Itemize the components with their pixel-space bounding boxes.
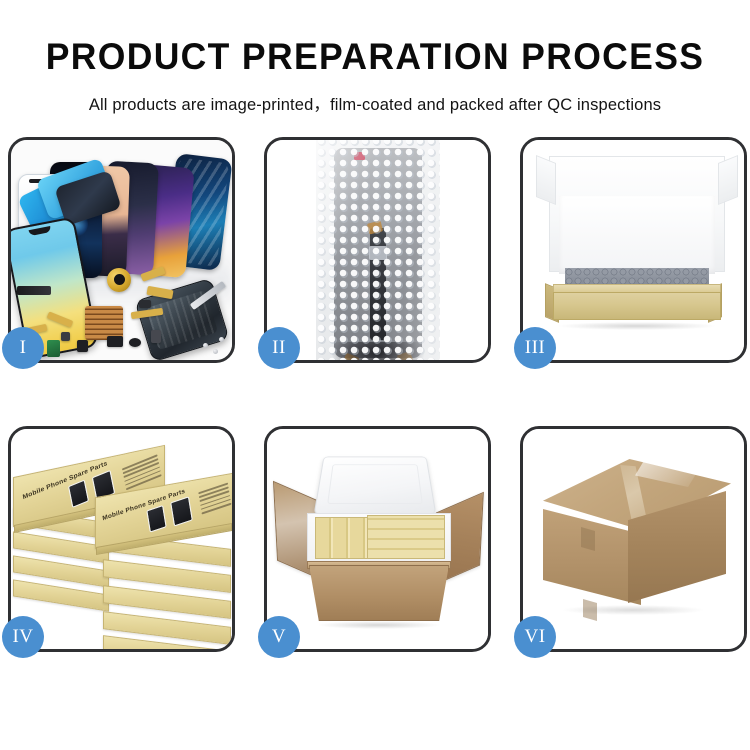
step-4-illustration: Mobile Phone Spare Parts Mobile Phone Sp… <box>11 429 232 649</box>
product-preparation-infographic: PRODUCT PREPARATION PROCESS All products… <box>0 0 750 750</box>
carton-front-icon <box>309 565 449 621</box>
step-6-illustration <box>523 429 744 649</box>
camera-module-icon <box>77 340 88 352</box>
step-badge-3: III <box>514 327 556 369</box>
step-badge-4: IV <box>2 616 44 658</box>
step-2-illustration <box>267 140 488 360</box>
wireless-coil-icon <box>107 268 131 292</box>
box-phone-graphic <box>146 505 166 533</box>
step-1-illustration <box>11 140 232 360</box>
step-badge-2: II <box>258 327 300 369</box>
drop-shadow <box>319 621 439 629</box>
screw-icon <box>213 349 218 354</box>
circuit-board-icon <box>47 340 60 357</box>
component-icon <box>151 330 161 343</box>
box-spec-lines <box>198 483 232 517</box>
drop-shadow <box>559 322 715 330</box>
process-step-card-6[interactable]: VI <box>520 426 747 652</box>
header: PRODUCT PREPARATION PROCESS All products… <box>0 0 750 115</box>
step-5-illustration <box>267 429 488 649</box>
drop-shadow <box>563 605 703 615</box>
foam-lid-icon <box>314 457 437 515</box>
speaker-icon <box>129 338 141 347</box>
page-title: PRODUCT PREPARATION PROCESS <box>15 36 735 78</box>
process-step-card-3[interactable]: III <box>520 137 747 363</box>
component-icon <box>61 332 70 341</box>
step-badge-1: I <box>2 327 44 369</box>
box-phone-graphic <box>68 480 89 508</box>
process-step-card-4[interactable]: Mobile Phone Spare Parts Mobile Phone Sp… <box>8 426 235 652</box>
packed-boxes-icon <box>367 515 445 559</box>
process-step-grid: I II <box>8 137 746 652</box>
box-phone-graphic <box>170 496 193 526</box>
process-step-card-5[interactable]: V <box>264 426 491 652</box>
plastic-glare <box>316 140 440 360</box>
screw-icon <box>203 343 208 348</box>
component-icon <box>107 336 123 347</box>
step-badge-5: V <box>258 616 300 658</box>
kraft-box-icon <box>553 292 721 320</box>
foam-liner-icon <box>559 196 715 274</box>
copper-mesh-icon <box>85 306 123 340</box>
step-badge-6: VI <box>514 616 556 658</box>
carton-seam <box>581 527 595 551</box>
bubble-wrap-package <box>316 140 440 360</box>
box-stack: Mobile Phone Spare Parts Mobile Phone Sp… <box>11 437 232 649</box>
screw-icon <box>219 337 224 342</box>
page-subtitle: All products are image-printed，film-coat… <box>0 91 750 115</box>
process-step-card-1[interactable]: I <box>8 137 235 363</box>
battery-icon <box>17 286 51 295</box>
process-step-card-2[interactable]: II <box>264 137 491 363</box>
component-icon <box>139 300 151 308</box>
step-3-illustration <box>523 140 744 360</box>
